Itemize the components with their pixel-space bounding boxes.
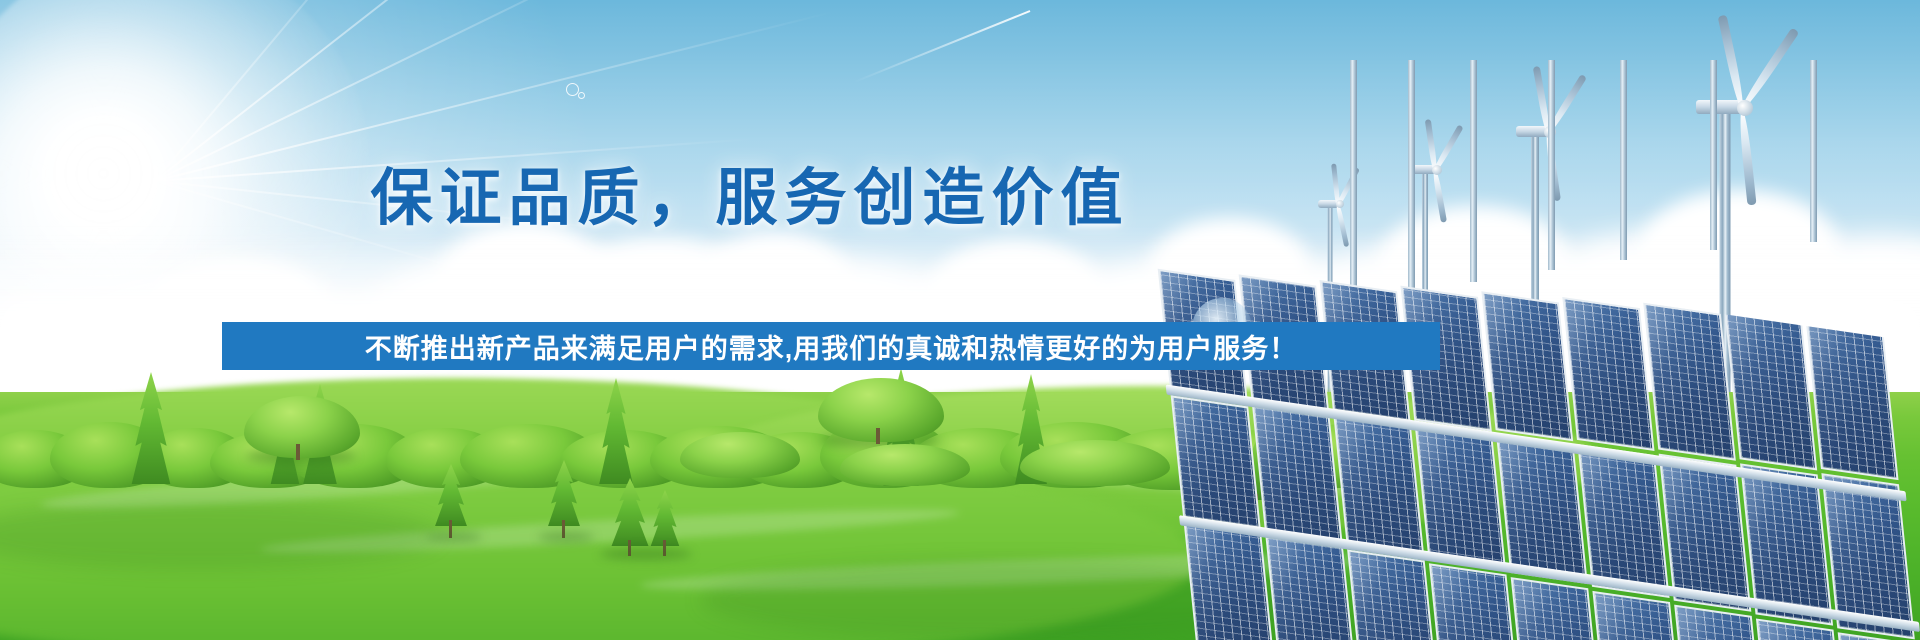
solar-panel bbox=[1674, 605, 1767, 640]
page-title: 保证品质，服务创造价值 bbox=[0, 168, 1500, 230]
solar-panel bbox=[1481, 291, 1573, 441]
solar-panel bbox=[1756, 618, 1849, 640]
support-pole bbox=[1620, 60, 1627, 260]
solar-panel bbox=[1805, 314, 1898, 480]
support-pole bbox=[1548, 60, 1555, 270]
solar-panel bbox=[1415, 424, 1506, 570]
tree-shadow bbox=[600, 548, 692, 560]
solar-panel bbox=[1184, 522, 1274, 640]
solar-panel bbox=[1252, 405, 1343, 543]
solar-panel-array bbox=[1150, 230, 1920, 640]
tree-shadow bbox=[426, 532, 482, 542]
subtitle-text: 不断推出新产品来满足用户的需求,用我们的真诚和热情更好的为用户服务！ bbox=[365, 327, 1298, 366]
solar-panel bbox=[1496, 434, 1588, 584]
tree-shadow bbox=[538, 532, 594, 542]
solar-panel bbox=[1333, 415, 1424, 557]
support-pole bbox=[1710, 60, 1717, 250]
promo-banner: 保证品质，服务创造价值 不断推出新产品来满足用户的需求,用我们的真诚和热情更好的… bbox=[0, 0, 1920, 640]
tree-trunk bbox=[876, 428, 880, 444]
subtitle-bar: 不断推出新产品来满足用户的需求,用我们的真诚和热情更好的为用户服务！ bbox=[222, 322, 1440, 370]
solar-panel bbox=[1724, 308, 1817, 470]
shrub bbox=[840, 444, 970, 486]
support-pole bbox=[1810, 60, 1817, 242]
solar-panel bbox=[1592, 591, 1684, 640]
turbine-hub bbox=[1737, 100, 1753, 116]
solar-panel bbox=[1171, 395, 1261, 529]
solar-panel bbox=[1347, 549, 1438, 640]
solar-panel bbox=[1643, 303, 1736, 461]
solar-panel bbox=[1562, 297, 1654, 451]
solar-panel bbox=[1429, 563, 1520, 640]
solar-panel bbox=[1265, 536, 1356, 640]
tree-trunk bbox=[296, 444, 300, 460]
solar-panel bbox=[1511, 577, 1603, 640]
shrub bbox=[1020, 440, 1170, 486]
shrub bbox=[680, 432, 800, 478]
turbine-blade bbox=[1738, 109, 1757, 205]
